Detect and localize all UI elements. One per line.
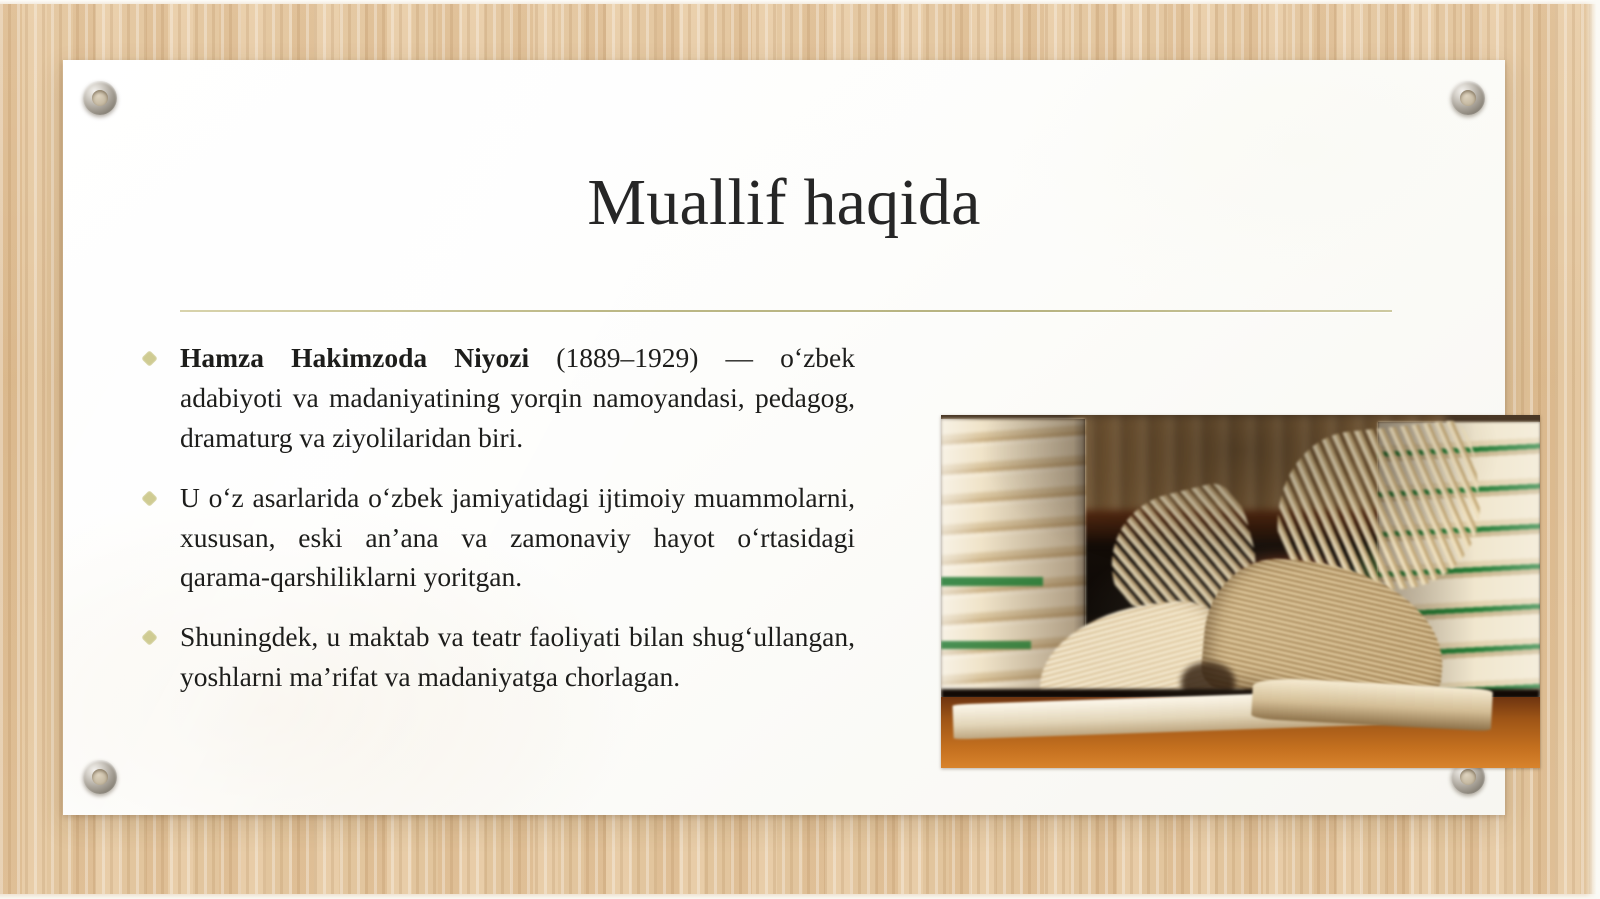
list-item-text: Shuningdek, u maktab va teatr faoliyati … [180,617,855,697]
books-photo-canvas [941,415,1540,768]
list-item-text: Hamza Hakimzoda Niyozi (1889–1929) — o‘z… [180,338,855,458]
page-title: Muallif haqida [123,168,1445,237]
wood-bottom-edge [0,894,1600,899]
books-photo [941,415,1540,768]
photo-soft-light-overlay [941,415,1540,768]
bullet-marker-icon [141,629,158,646]
wood-top-edge [0,0,1600,4]
wood-right-edge [1586,0,1600,899]
bullet-marker-icon [141,350,158,367]
bullet-marker-icon [141,490,158,507]
grommet-screw-top-left-icon [83,81,117,115]
list-item-body: U o‘z asarlarida o‘zbek jamiyatidagi ijt… [180,482,855,593]
grommet-screw-bottom-left-icon [83,760,117,794]
list-item-body: Shuningdek, u maktab va teatr faoliyati … [180,621,855,692]
bullet-list: Hamza Hakimzoda Niyozi (1889–1929) — o‘z… [139,338,855,697]
list-item-lead: Hamza Hakimzoda Niyozi [180,342,529,373]
list-item: U o‘z asarlarida o‘zbek jamiyatidagi ijt… [139,478,855,598]
grommet-screw-top-right-icon [1451,81,1485,115]
list-item-text: U o‘z asarlarida o‘zbek jamiyatidagi ijt… [180,478,855,598]
slide-panel: Muallif haqida Hamza Hakimzoda Niyozi (1… [63,60,1505,815]
list-item: Shuningdek, u maktab va teatr faoliyati … [139,617,855,697]
list-item: Hamza Hakimzoda Niyozi (1889–1929) — o‘z… [139,338,855,458]
slide-root: Muallif haqida Hamza Hakimzoda Niyozi (1… [0,0,1600,899]
title-divider [180,310,1392,312]
